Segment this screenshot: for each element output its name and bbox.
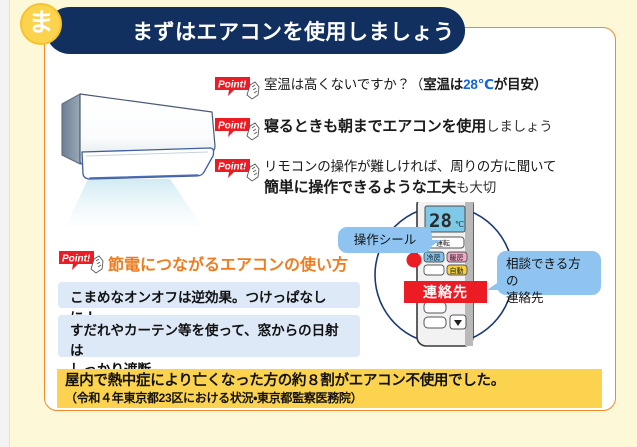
- point-seg: 寝るときも朝までエアコンを使用: [264, 118, 486, 135]
- svg-text:Point!: Point!: [218, 161, 247, 172]
- remote-display-temp: 28: [429, 210, 452, 232]
- remote-mode-cool: 冷房: [427, 253, 441, 262]
- point-seg-highlight: 28℃: [463, 77, 494, 92]
- remote-mode-heat: 暖房: [450, 254, 464, 262]
- point-text: 室温は高くないですか？（室温は28℃が目安）: [264, 74, 547, 95]
- point-seg: 簡単に操作できるような工夫: [264, 179, 456, 196]
- header-badge-label: ま: [22, 5, 60, 43]
- point-item: Point! 寝るときも朝までエアコンを使用しましょう: [214, 115, 614, 144]
- page-left-rail: [0, 0, 9, 447]
- energy-saving-heading: Point! 節電につながるエアコンの使い方: [58, 249, 348, 277]
- callout-operation-sticker: 操作シール: [338, 227, 432, 253]
- tip-box: すだれやカーテン等を使って、窓からの日射は しっかり遮断。: [58, 315, 360, 357]
- remote-mode-auto: 自動: [450, 266, 464, 275]
- point-badge-icon: Point!: [214, 75, 264, 103]
- point-badge-icon: Point!: [58, 249, 108, 277]
- point-item: Point! 室温は高くないですか？（室温は28℃が目安）: [214, 74, 614, 103]
- infographic-page: まずはエアコンを使用しましょう ま: [0, 0, 637, 447]
- point-seg: が目安）: [494, 77, 547, 92]
- point-badge-icon: Point!: [214, 116, 264, 144]
- point-seg: も大切: [456, 180, 496, 195]
- tip-box: こまめなオンオフは逆効果。つけっぱなしに！: [58, 282, 360, 308]
- point-text: リモコンの操作が難しければ、周りの方に聞いて 簡単に操作できるような工夫も大切: [264, 156, 556, 200]
- cool-airflow: [66, 179, 202, 226]
- red-sticker-dot: [407, 253, 422, 268]
- contact-chip: 連絡先: [404, 281, 487, 303]
- point-text: 寝るときも朝までエアコンを使用しましょう: [264, 115, 553, 139]
- point-seg: 室温は高くないですか？（: [264, 77, 423, 92]
- statistic-source-text: （令和４年東京都23区における状況・東京都監察医務院）: [65, 391, 594, 407]
- page-title: まずはエアコンを使用しましょう: [132, 16, 455, 46]
- statistic-main-text: 屋内で熱中症により亡くなった方の約８割がエアコン不使用でした。: [65, 372, 594, 391]
- section-heading-label: 節電につながるエアコンの使い方: [108, 251, 348, 275]
- header-kana-badge: ま: [20, 3, 62, 45]
- page-left-rail-edge: [9, 0, 10, 447]
- remote-display-unit: ℃: [455, 220, 464, 229]
- svg-text:Point!: Point!: [62, 253, 91, 264]
- svg-text:Point!: Point!: [218, 79, 247, 90]
- point-seg: しましょう: [486, 119, 553, 134]
- statistic-banner: 屋内で熱中症により亡くなった方の約８割がエアコン不使用でした。 （令和４年東京都…: [57, 369, 602, 408]
- air-conditioner-illustration: [52, 86, 227, 226]
- point-list: Point! 室温は高くないですか？（室温は28℃が目安） Point!: [214, 74, 614, 212]
- callout-contact-person: 相談できる方の 連絡先: [497, 251, 601, 295]
- header-banner: まずはエアコンを使用しましょう: [46, 7, 465, 54]
- point-item: Point! リモコンの操作が難しければ、周りの方に聞いて 簡単に操作できるよう…: [214, 156, 614, 200]
- svg-text:Point!: Point!: [218, 120, 247, 131]
- point-seg: 室温は: [423, 77, 463, 92]
- point-badge-icon: Point!: [214, 157, 264, 185]
- point-seg: リモコンの操作が難しければ、周りの方に聞いて: [264, 159, 556, 174]
